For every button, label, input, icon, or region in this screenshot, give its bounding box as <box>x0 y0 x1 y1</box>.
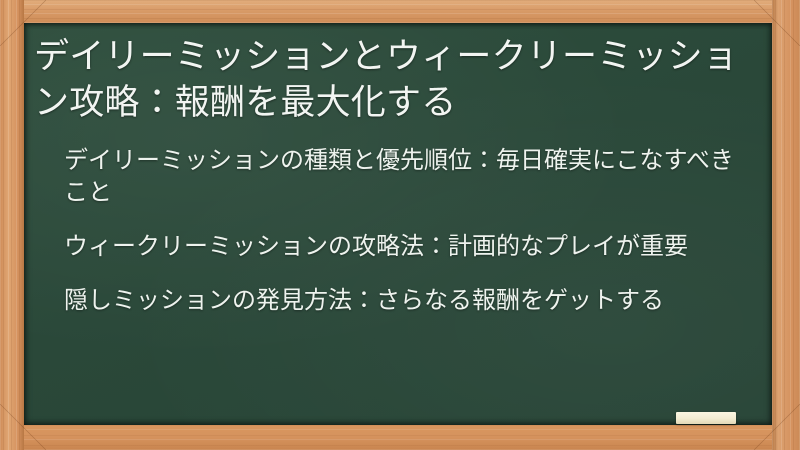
frame-bottom-rail <box>0 425 800 450</box>
chalkboard-surface: デイリーミッションとウィークリーミッション攻略：報酬を最大化する デイリーミッシ… <box>24 23 772 425</box>
list-item: デイリーミッションの種類と優先順位：毎日確実にこなすべきこと <box>64 144 754 208</box>
board-content: デイリーミッションとウィークリーミッション攻略：報酬を最大化する デイリーミッシ… <box>24 23 772 425</box>
frame-top-rail <box>0 0 800 23</box>
board-title: デイリーミッションとウィークリーミッション攻略：報酬を最大化する <box>34 31 754 126</box>
chalk-stick <box>676 412 736 424</box>
board-topic-list: デイリーミッションの種類と優先順位：毎日確実にこなすべきこと ウィークリーミッシ… <box>34 144 754 317</box>
list-item: 隠しミッションの発見方法：さらなる報酬をゲットする <box>64 284 754 316</box>
frame-left-stile <box>0 0 24 450</box>
chalkboard-infographic: デイリーミッションとウィークリーミッション攻略：報酬を最大化する デイリーミッシ… <box>0 0 800 450</box>
frame-right-stile <box>772 0 800 450</box>
list-item: ウィークリーミッションの攻略法：計画的なプレイが重要 <box>64 230 754 262</box>
